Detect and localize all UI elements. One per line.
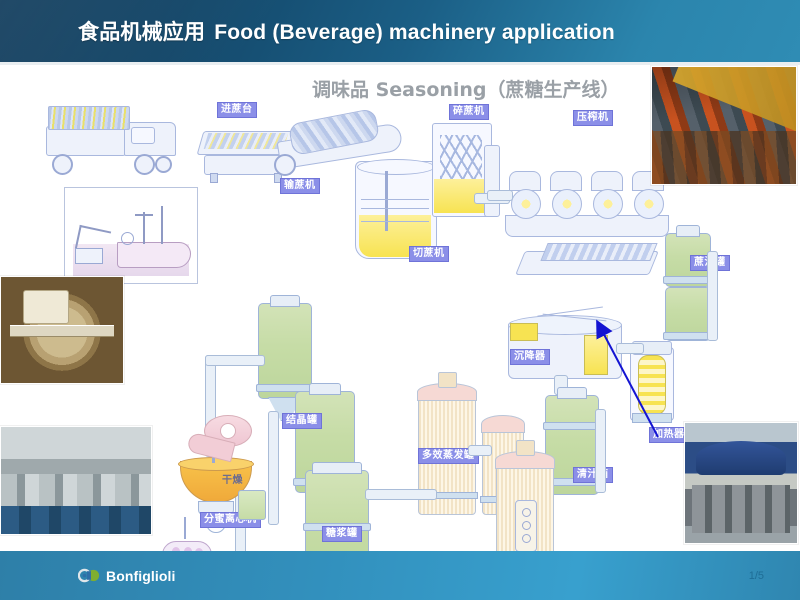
settler-to-heater-pipe bbox=[616, 343, 644, 354]
brand-name: Bonfiglioli bbox=[106, 568, 176, 584]
evaporator-link-pipe bbox=[468, 445, 492, 456]
centrifuge-hall-photo bbox=[0, 426, 152, 535]
cane-shredder-illustration bbox=[432, 123, 500, 231]
clear-juice-side-pipe bbox=[595, 409, 606, 493]
slide-body: 调味品 Seasoning（蔗糖生产线） 进蔗台 输蔗机 bbox=[0, 65, 800, 548]
dryer-vertical-support bbox=[268, 411, 279, 525]
slide-header: 食品机械应用Food (Beverage) machinery applicat… bbox=[0, 0, 800, 62]
syrup-loop-pipe-right bbox=[365, 489, 437, 500]
label-cane-shredder: 碎蔗机 bbox=[449, 104, 489, 120]
page-title-english: Food (Beverage) machinery application bbox=[214, 21, 615, 44]
cooling-tower-photo bbox=[684, 422, 798, 544]
label-clear-juice-tank: 清汁箱 bbox=[573, 467, 613, 483]
cane-juice-tank-lower bbox=[665, 287, 711, 341]
label-cane-feeding-table: 进蔗台 bbox=[217, 102, 257, 118]
dryer-collector-box bbox=[238, 490, 266, 520]
slide-subtitle: 调味品 Seasoning（蔗糖生产线） bbox=[312, 75, 620, 102]
label-crystallization-tank: 结晶罐 bbox=[282, 413, 322, 429]
bonfiglioli-gear-icon bbox=[78, 568, 100, 583]
crystalliser-feed-elbow bbox=[205, 355, 265, 366]
page-title-chinese: 食品机械应用 bbox=[78, 20, 205, 44]
mill-press-illustration bbox=[505, 171, 673, 243]
label-mill-press: 压榨机 bbox=[573, 110, 613, 126]
mill-outfeed-pipe bbox=[487, 190, 513, 201]
label-settler: 沉降器 bbox=[510, 349, 550, 365]
label-cane-cutter: 切蔗机 bbox=[409, 246, 449, 262]
cane-truck-illustration bbox=[38, 100, 188, 175]
slide-footer: Bonfiglioli 1/5 bbox=[0, 551, 800, 600]
label-drying: 干燥 bbox=[219, 474, 246, 488]
label-cane-conveyor: 输蔗机 bbox=[280, 178, 320, 194]
bagasse-conveyor-illustration bbox=[520, 243, 660, 277]
honey-centrifuge-photo bbox=[0, 276, 124, 384]
page-title: 食品机械应用Food (Beverage) machinery applicat… bbox=[78, 16, 615, 46]
slide-root: 食品机械应用Food (Beverage) machinery applicat… bbox=[0, 0, 800, 600]
settler-illustration bbox=[508, 309, 628, 387]
dryer-illustration bbox=[200, 415, 278, 461]
mill-house-photo bbox=[651, 66, 797, 185]
label-syrup-tank: 糖浆罐 bbox=[322, 526, 362, 542]
page-number: 1/5 bbox=[749, 570, 764, 582]
juice-tank-side-pipe bbox=[707, 251, 718, 341]
label-heater: 加热器 bbox=[649, 427, 689, 443]
brand-logo[interactable]: Bonfiglioli bbox=[78, 568, 176, 584]
ship-unloading-illustration bbox=[64, 187, 198, 284]
